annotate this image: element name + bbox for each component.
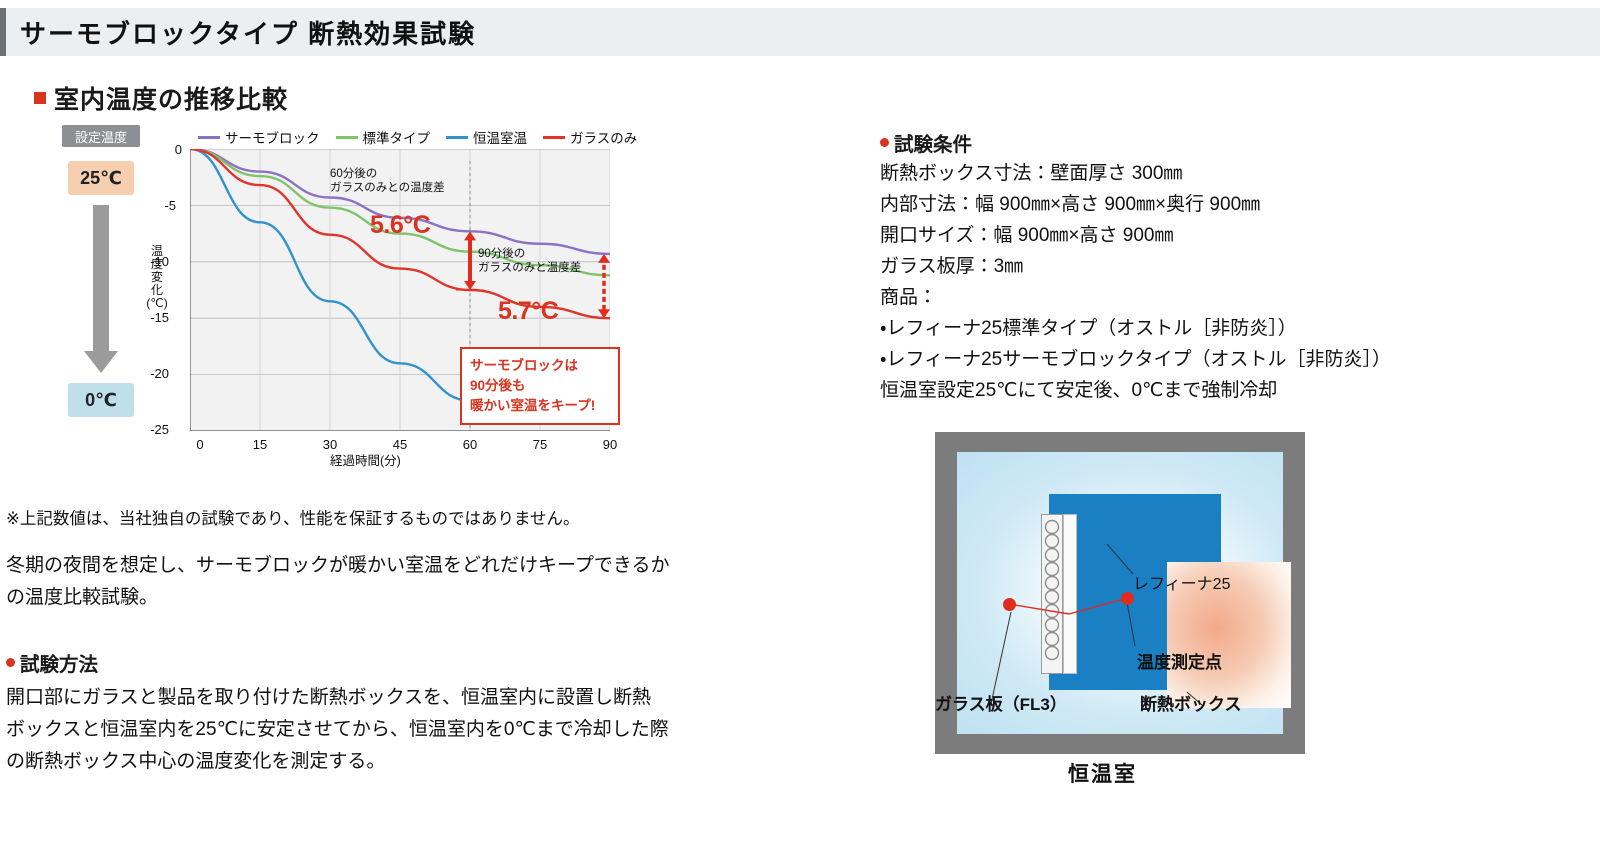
round-bullet-icon bbox=[880, 138, 889, 147]
legend-swatch-icon bbox=[198, 136, 220, 139]
overview-paragraph: 冬期の夜間を想定し、サーモブロックが暖かい室温をどれだけキープできるか の温度比… bbox=[6, 550, 806, 614]
condition-item: ガラス板厚：3㎜ bbox=[880, 251, 1540, 282]
legend-swatch-icon bbox=[543, 136, 565, 139]
x-tick-label: 90 bbox=[595, 437, 625, 452]
condition-item: 開口サイズ：幅 900㎜×高さ 900㎜ bbox=[880, 220, 1540, 251]
header-accent-bar bbox=[0, 8, 6, 56]
annotation-60min: 60分後の ガラスのみとの温度差 bbox=[330, 167, 445, 195]
chart-legend: サーモブロック 標準タイプ 恒温室温 ガラスのみ bbox=[198, 127, 637, 147]
page-title: サーモブロックタイプ 断熱効果試験 bbox=[20, 14, 476, 51]
legend-swatch-icon bbox=[446, 136, 468, 139]
y-tick-label: -5 bbox=[142, 198, 176, 213]
y-tick-label: -25 bbox=[135, 422, 169, 437]
method-line-3: の断熱ボックス中心の温度変化を測定する。 bbox=[6, 746, 816, 778]
x-tick-label: 75 bbox=[525, 437, 555, 452]
condition-item: 断熱ボックス寸法：壁面厚さ 300㎜ bbox=[880, 158, 1540, 189]
annotation-90min-value: 5.7°C bbox=[498, 297, 558, 326]
label-product: レフィーナ25 bbox=[1133, 570, 1230, 594]
temperature-arrow-head-icon bbox=[84, 351, 118, 373]
condition-item: ・レフィーナ25サーモブロックタイプ（オストル［非防炎］） bbox=[880, 344, 1540, 375]
temperature-arrow-shaft bbox=[93, 205, 109, 357]
condition-item: 商品： bbox=[880, 282, 1540, 313]
legend-item-2: 恒温室温 bbox=[446, 127, 527, 147]
legend-label: 標準タイプ bbox=[363, 127, 431, 147]
label-glass-plate: ガラス板（FL3） bbox=[935, 690, 1067, 715]
round-bullet-icon bbox=[6, 658, 15, 667]
condition-item: 恒温室設定25℃にて安定後、0℃まで強制冷却 bbox=[880, 375, 1540, 406]
callout-line1: サーモブロックは bbox=[470, 356, 610, 376]
x-tick-label: 0 bbox=[185, 437, 215, 452]
method-paragraph: 開口部にガラスと製品を取り付けた断熱ボックスを、恒温室内に設置し断熱 ボックスと… bbox=[6, 682, 816, 778]
label-measure-point: 温度測定点 bbox=[1137, 648, 1222, 673]
legend-item-1: 標準タイプ bbox=[336, 127, 431, 147]
y-tick-label: -15 bbox=[135, 310, 169, 325]
disclaimer-note: ※上記数値は、当社独自の試験であり、性能を保証するものではありません。 bbox=[6, 505, 580, 529]
callout-line2: 90分後も bbox=[470, 376, 610, 396]
overview-line-2: の温度比較試験。 bbox=[6, 582, 806, 614]
conditions-list: 断熱ボックス寸法：壁面厚さ 300㎜ 内部寸法：幅 900㎜×高さ 900㎜×奥… bbox=[880, 158, 1540, 406]
annotation-60min-line1: 60分後の bbox=[330, 167, 445, 181]
method-line-1: 開口部にガラスと製品を取り付けた断熱ボックスを、恒温室内に設置し断熱 bbox=[6, 682, 816, 714]
overview-line-1: 冬期の夜間を想定し、サーモブロックが暖かい室温をどれだけキープできるか bbox=[6, 550, 806, 582]
annotation-60min-value: 5.6°C bbox=[370, 211, 430, 240]
temp-low-chip: 0℃ bbox=[68, 383, 134, 417]
x-axis-title: 経過時間(分) bbox=[330, 450, 401, 469]
annotation-60min-line2: ガラスのみとの温度差 bbox=[330, 181, 445, 195]
label-insulation-box: 断熱ボックス bbox=[1140, 690, 1242, 715]
method-line-2: ボックスと恒温室内を25℃に安定させてから、恒温室内を0℃まで冷却した際 bbox=[6, 714, 816, 746]
y-tick-label: 0 bbox=[148, 142, 182, 157]
annotation-90min-line1: 90分後の bbox=[478, 247, 581, 261]
y-tick-label: -10 bbox=[135, 254, 169, 269]
condition-item: ・レフィーナ25標準タイプ（オストル［非防炎］） bbox=[880, 313, 1540, 344]
x-tick-label: 15 bbox=[245, 437, 275, 452]
annotation-90min: 90分後の ガラスのみと温度差 bbox=[478, 247, 581, 275]
conditions-heading-label: 試験条件 bbox=[894, 128, 972, 157]
legend-item-3: ガラスのみ bbox=[543, 127, 637, 147]
legend-swatch-icon bbox=[336, 136, 358, 139]
legend-label: ガラスのみ bbox=[570, 127, 637, 147]
callout-line3: 暖かい室温をキープ! bbox=[470, 396, 610, 416]
condition-item: 内部寸法：幅 900㎜×高さ 900㎜×奥行 900㎜ bbox=[880, 189, 1540, 220]
legend-label: サーモブロック bbox=[225, 127, 320, 147]
square-bullet-icon bbox=[34, 92, 46, 104]
section-heading: 室内温度の推移比較 bbox=[34, 80, 288, 116]
annotation-90min-line2: ガラスのみと温度差 bbox=[478, 261, 581, 275]
legend-label: 恒温室温 bbox=[473, 127, 527, 147]
conditions-heading: 試験条件 bbox=[880, 128, 972, 157]
measure-point-glass-icon bbox=[1003, 598, 1016, 611]
section-heading-label: 室内温度の推移比較 bbox=[54, 80, 288, 116]
setpoint-badge: 設定温度 bbox=[62, 125, 140, 147]
y-tick-label: -20 bbox=[135, 366, 169, 381]
page-header: サーモブロックタイプ 断熱効果試験 bbox=[0, 8, 1600, 56]
chart-container: 設定温度 25℃ 0℃ サーモブロック 標準タイプ 恒温室温 ガラスのみ 温度変… bbox=[30, 125, 830, 495]
temp-high-chip: 25℃ bbox=[68, 161, 134, 195]
x-tick-label: 60 bbox=[455, 437, 485, 452]
diagram-caption: 恒温室 bbox=[1068, 758, 1137, 788]
method-heading-label: 試験方法 bbox=[20, 648, 98, 677]
legend-item-0: サーモブロック bbox=[198, 127, 320, 147]
keep-warm-callout: サーモブロックは 90分後も 暖かい室温をキープ! bbox=[460, 347, 620, 425]
method-heading: 試験方法 bbox=[6, 648, 98, 677]
